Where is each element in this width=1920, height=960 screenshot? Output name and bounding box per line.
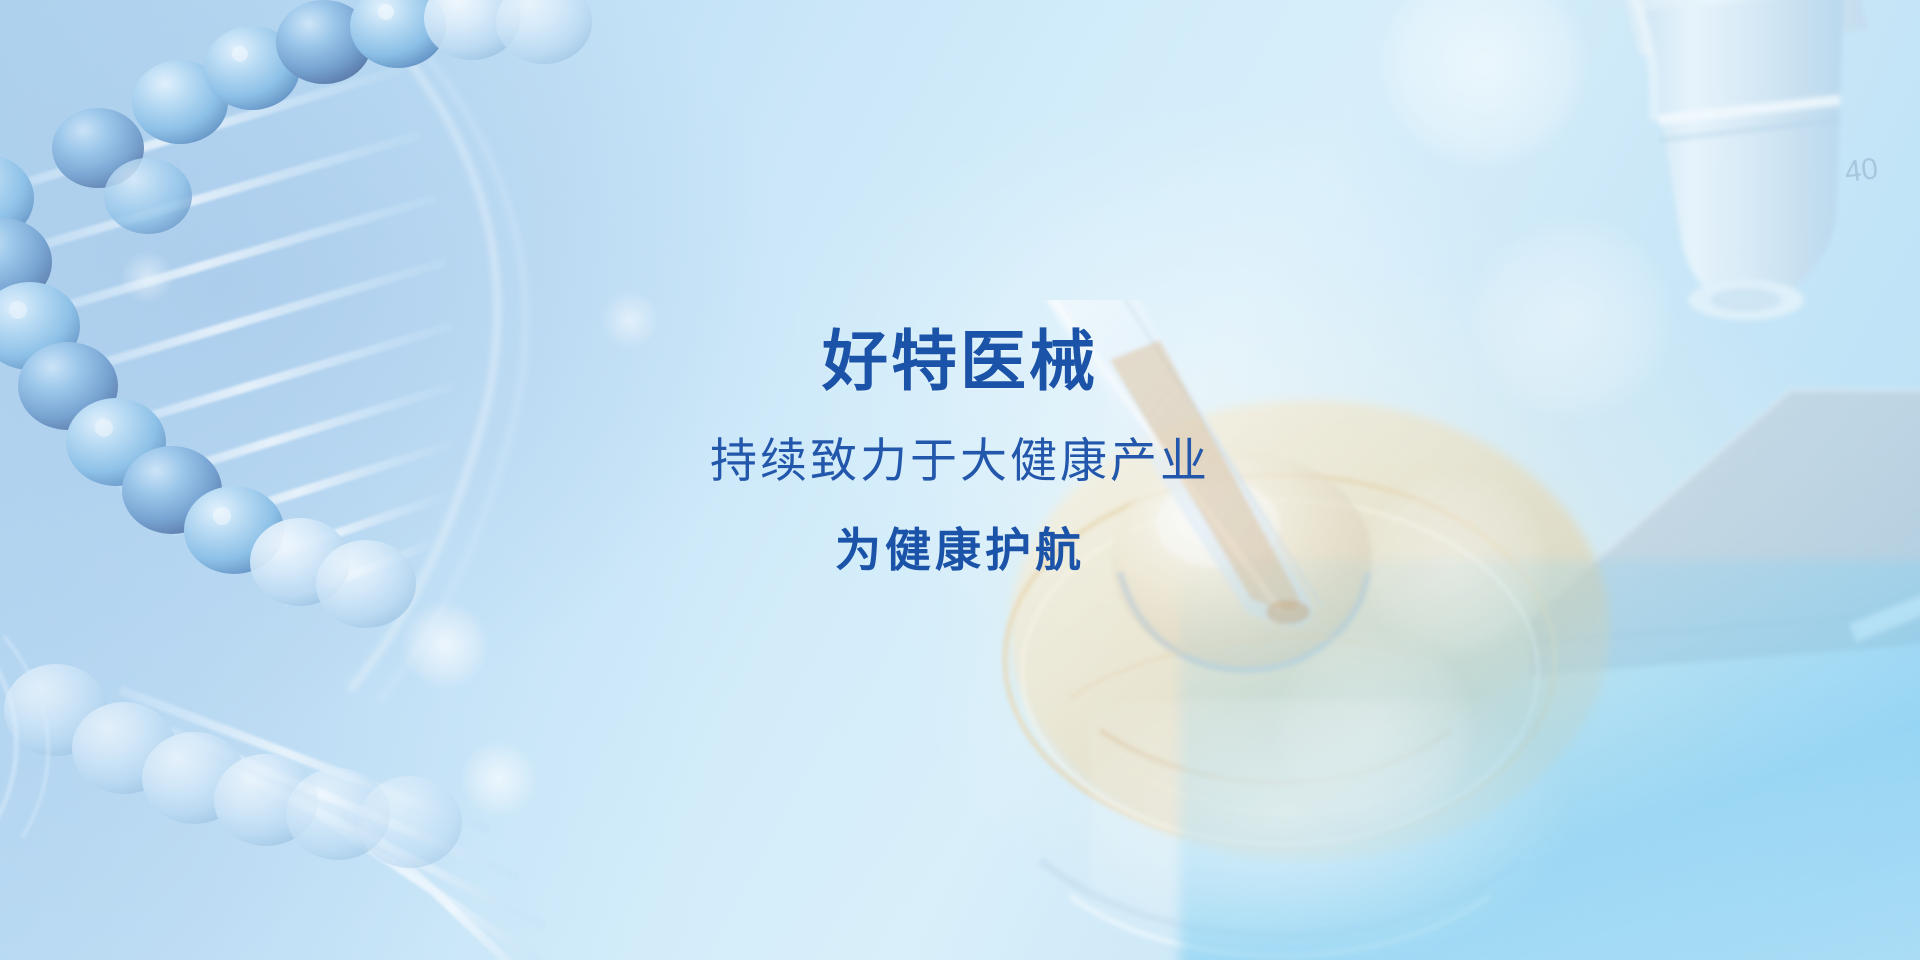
- microscope-magnification-label: 40: [1843, 152, 1880, 189]
- company-title: 好特医械: [0, 328, 1920, 395]
- tagline-secondary: 为健康护航: [0, 525, 1920, 576]
- hero-banner: 40: [0, 0, 1920, 960]
- table-surface-highlight: [1090, 700, 1590, 960]
- hero-text-block: 好特医械 持续致力于大健康产业 为健康护航: [0, 328, 1920, 576]
- tagline-primary: 持续致力于大健康产业: [0, 435, 1920, 487]
